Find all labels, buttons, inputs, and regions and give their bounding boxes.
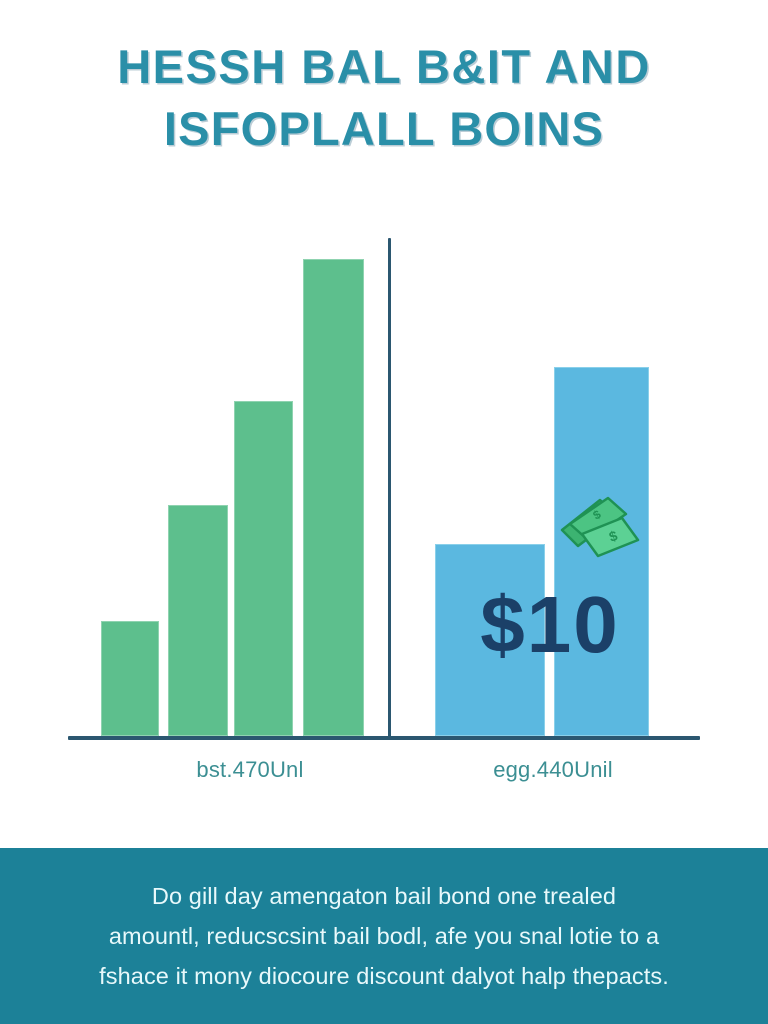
axis-baseline (68, 736, 700, 740)
caption-line-3: fshace it mony diocoure discount dalyot … (39, 956, 729, 996)
bar-green-3 (234, 401, 293, 736)
caption-band: Do gill day amengaton bail bond one trea… (0, 848, 768, 1024)
bar-green-4 (303, 259, 364, 736)
page-title: HESSH BAL B&IT AND ISFOPLALL BOINS (0, 36, 768, 160)
bar-blue-1 (435, 544, 545, 736)
bar-chart: $ $ $10 (0, 200, 768, 820)
bar-green-2 (168, 505, 228, 736)
category-label-right: egg.440Unil (408, 757, 698, 783)
money-bills-icon: $ $ (556, 494, 644, 566)
group-divider (388, 238, 391, 738)
bar-green-1 (101, 621, 159, 736)
title-line-1: HESSH BAL B&IT AND (0, 36, 768, 98)
infographic-page: { "title": { "line1": "HESSH BAL B&IT AN… (0, 0, 768, 1024)
category-label-left: bst.470Unl (110, 757, 390, 783)
caption-line-2: amountl, reducscsint bail bodl, afe you … (39, 916, 729, 956)
caption-text: Do gill day amengaton bail bond one trea… (39, 876, 729, 996)
title-line-2: ISFOPLALL BOINS (0, 98, 768, 160)
caption-line-1: Do gill day amengaton bail bond one trea… (39, 876, 729, 916)
